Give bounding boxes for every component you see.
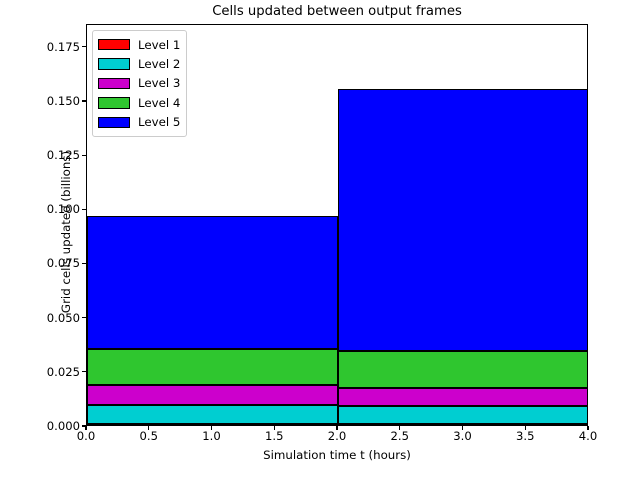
y-tick-mark (82, 263, 86, 264)
bar-segment-level-5[interactable] (338, 89, 588, 351)
x-tick-label: 3.5 (516, 429, 534, 443)
y-tick-label: 0.075 (22, 256, 80, 270)
chart-title: Cells updated between output frames (86, 4, 588, 19)
bar-segment-level-3[interactable] (87, 385, 338, 405)
legend-item-level-3[interactable]: Level 3 (98, 74, 180, 93)
x-tick-label: 2.5 (391, 429, 409, 443)
y-tick-label: 0.050 (22, 311, 80, 325)
legend-item-level-2[interactable]: Level 2 (98, 54, 180, 73)
chart-legend: Level 1Level 2Level 3Level 4Level 5 (92, 30, 187, 137)
chart-figure: Cells updated between output frames Grid… (0, 0, 640, 480)
x-tick-label: 0.0 (77, 429, 95, 443)
x-tick-mark (587, 426, 588, 430)
x-tick-mark (274, 426, 275, 430)
x-tick-label: 0.5 (140, 429, 158, 443)
legend-item-level-5[interactable]: Level 5 (98, 113, 180, 132)
x-tick-label: 3.0 (453, 429, 471, 443)
bar-segment-level-5[interactable] (87, 216, 338, 349)
x-tick-mark (525, 426, 526, 430)
x-tick-mark (462, 426, 463, 430)
y-tick-mark (82, 46, 86, 47)
x-axis-label: Simulation time t (hours) (86, 448, 588, 462)
bar-segment-level-4[interactable] (338, 351, 588, 388)
legend-label: Level 2 (138, 57, 180, 71)
legend-label: Level 3 (138, 76, 180, 90)
y-tick-label: 0.125 (22, 148, 80, 162)
bar-segment-level-3[interactable] (338, 388, 588, 406)
x-tick-mark (399, 426, 400, 430)
y-tick-mark (82, 100, 86, 101)
y-tick-mark (82, 155, 86, 156)
x-tick-label: 2.0 (328, 429, 346, 443)
y-axis-label: Grid cells updated (billions) (59, 82, 73, 382)
legend-item-level-4[interactable]: Level 4 (98, 93, 180, 112)
y-tick-label: 0.175 (22, 40, 80, 54)
y-tick-label: 0.025 (22, 365, 80, 379)
x-tick-mark (148, 426, 149, 430)
y-tick-mark (82, 209, 86, 210)
y-tick-mark (82, 317, 86, 318)
x-tick-mark (211, 426, 212, 430)
y-tick-label: 0.150 (22, 94, 80, 108)
legend-item-level-1[interactable]: Level 1 (98, 35, 180, 54)
bar-group[interactable] (338, 24, 588, 425)
x-tick-label: 1.0 (202, 429, 220, 443)
y-tick-label: 0.100 (22, 202, 80, 216)
legend-label: Level 4 (138, 96, 180, 110)
legend-swatch-icon (98, 39, 130, 51)
bar-segment-level-2[interactable] (338, 406, 588, 424)
bar-segment-level-4[interactable] (87, 349, 338, 386)
legend-label: Level 5 (138, 115, 180, 129)
legend-label: Level 1 (138, 38, 180, 52)
y-tick-mark (82, 371, 86, 372)
legend-swatch-icon (98, 78, 130, 90)
x-tick-mark (336, 426, 337, 430)
x-tick-mark (85, 426, 86, 430)
x-tick-label: 4.0 (579, 429, 597, 443)
x-tick-label: 1.5 (265, 429, 283, 443)
bar-segment-level-2[interactable] (87, 405, 338, 424)
legend-swatch-icon (98, 117, 130, 129)
legend-swatch-icon (98, 58, 130, 70)
y-tick-label: 0.000 (22, 419, 80, 433)
legend-swatch-icon (98, 97, 130, 109)
